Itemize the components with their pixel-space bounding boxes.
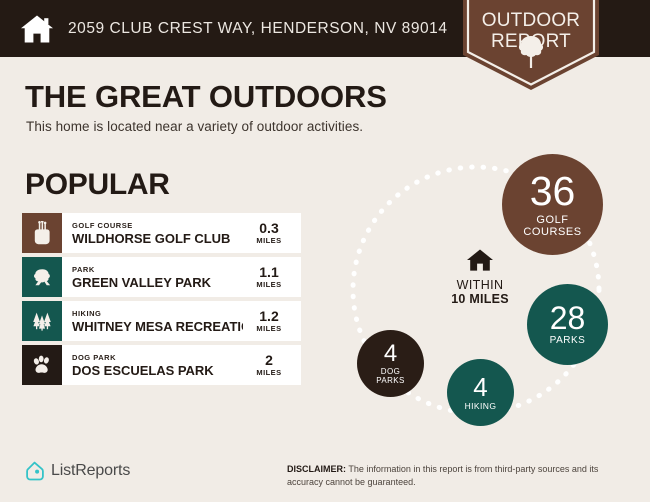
list-item[interactable]: DOG PARK DOS ESCUELAS PARK 2 MILES: [22, 345, 301, 385]
amenities-bubble-chart: 36 GOLF COURSES 28 PARKS 4 HIKING 4 DOG …: [330, 148, 630, 438]
list-item-category: HIKING: [72, 309, 243, 319]
outdoor-report-badge: OUTDOOR REPORT: [463, 0, 599, 90]
golf-bag-icon: [22, 213, 62, 253]
list-item-name: GREEN VALLEY PARK: [72, 275, 243, 290]
list-item[interactable]: PARK GREEN VALLEY PARK 1.1 MILES: [22, 257, 301, 297]
bubble-label: DOG PARKS: [376, 368, 405, 385]
list-item[interactable]: HIKING WHITNEY MESA RECREATION AREA 1.2 …: [22, 301, 301, 341]
list-item[interactable]: GOLF COURSE WILDHORSE GOLF CLUB 0.3 MILE…: [22, 213, 301, 253]
list-item-category: PARK: [72, 265, 243, 275]
bubble-label-line2: COURSES: [523, 227, 581, 239]
distance-value: 1.1: [259, 265, 278, 280]
page-subtitle: This home is located near a variety of o…: [26, 119, 363, 134]
bubble-label: PARKS: [550, 336, 586, 347]
bubble-parks[interactable]: 28 PARKS: [527, 284, 608, 365]
bubble-label-line2: PARKS: [376, 377, 405, 385]
bubble-hiking[interactable]: 4 HIKING: [447, 359, 514, 426]
distance-value: 0.3: [259, 221, 278, 236]
house-icon: [20, 14, 54, 44]
distance-unit: MILES: [256, 368, 281, 378]
bubble-value: 4: [384, 342, 397, 366]
distance-unit: MILES: [256, 280, 281, 290]
list-item-name: DOS ESCUELAS PARK: [72, 363, 243, 378]
list-item-text: PARK GREEN VALLEY PARK: [62, 257, 243, 297]
disclaimer-label: DISCLAIMER:: [287, 464, 346, 474]
page-title: THE GREAT OUTDOORS: [25, 79, 387, 115]
popular-list: GOLF COURSE WILDHORSE GOLF CLUB 0.3 MILE…: [22, 213, 301, 389]
cluster-center-label: WITHIN 10 MILES: [430, 248, 530, 307]
list-item-text: HIKING WHITNEY MESA RECREATION AREA: [62, 301, 243, 341]
outdoor-report-page: 2059 CLUB CREST WAY, HENDERSON, NV 89014…: [0, 0, 650, 502]
distance-value: 1.2: [259, 309, 278, 324]
badge-title: OUTDOOR REPORT: [463, 10, 599, 52]
bubble-dog-parks[interactable]: 4 DOG PARKS: [357, 330, 424, 397]
list-item-distance: 2 MILES: [243, 345, 301, 385]
listreports-logo-text: ListReports: [51, 462, 130, 480]
bubble-golf-courses[interactable]: 36 GOLF COURSES: [502, 154, 603, 255]
bubble-label: GOLF COURSES: [523, 215, 581, 238]
badge-line2: REPORT: [463, 31, 599, 52]
tree-icon: [22, 257, 62, 297]
bubble-value: 28: [550, 302, 586, 334]
bubble-label-line1: GOLF: [523, 215, 581, 227]
badge-line1: OUTDOOR: [463, 10, 599, 31]
distance-unit: MILES: [256, 324, 281, 334]
distance-unit: MILES: [256, 236, 281, 246]
center-line1: WITHIN: [457, 278, 504, 292]
list-item-name: WILDHORSE GOLF CLUB: [72, 231, 243, 246]
center-line2: 10 MILES: [451, 292, 509, 307]
popular-heading: POPULAR: [25, 168, 170, 202]
bubble-value: 4: [473, 374, 487, 400]
property-address: 2059 CLUB CREST WAY, HENDERSON, NV 89014: [68, 20, 448, 38]
list-item-category: DOG PARK: [72, 353, 243, 363]
list-item-distance: 1.1 MILES: [243, 257, 301, 297]
listreports-house-pin-icon: [25, 461, 44, 481]
list-item-distance: 1.2 MILES: [243, 301, 301, 341]
bubble-label: HIKING: [465, 402, 497, 411]
house-icon: [466, 248, 494, 272]
paw-print-icon: [22, 345, 62, 385]
list-item-name: WHITNEY MESA RECREATION AREA: [72, 319, 243, 334]
listreports-logo[interactable]: ListReports: [25, 461, 130, 481]
list-item-category: GOLF COURSE: [72, 221, 243, 231]
list-item-distance: 0.3 MILES: [243, 213, 301, 253]
bubble-value: 36: [530, 171, 576, 212]
distance-value: 2: [265, 353, 273, 368]
disclaimer: DISCLAIMER: The information in this repo…: [287, 463, 625, 488]
list-item-text: DOG PARK DOS ESCUELAS PARK: [62, 345, 243, 385]
list-item-text: GOLF COURSE WILDHORSE GOLF CLUB: [62, 213, 243, 253]
pine-trees-icon: [22, 301, 62, 341]
